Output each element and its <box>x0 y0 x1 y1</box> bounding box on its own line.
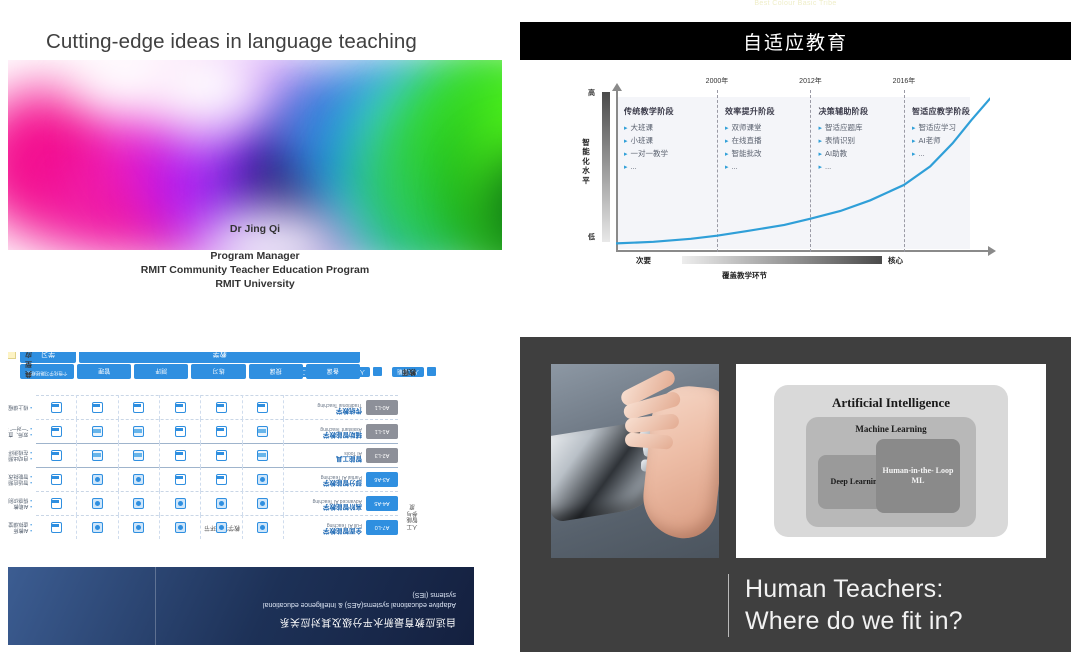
matrix-cell[interactable] <box>119 468 160 492</box>
legend-swatch-icon <box>373 368 382 377</box>
table-row[interactable]: A4-A5高阶智能教学Advanced AI Teaching <box>36 491 398 515</box>
robot-human-hands-photo <box>551 364 719 558</box>
robot-icon <box>257 474 268 485</box>
robot-icon <box>216 522 227 533</box>
matrix-cell[interactable] <box>243 396 284 420</box>
level-badge: A1-L1 <box>366 424 398 439</box>
slide-adaptive-education[interactable]: Best Colour Basic Tribe 自适应教育 高 低 智能化水平 … <box>520 0 1071 300</box>
note-line: AI助教 <box>8 503 32 509</box>
human-icon <box>257 402 268 413</box>
y-axis-low-label: 低 <box>588 232 595 242</box>
matrix-cell[interactable] <box>160 420 201 444</box>
label-machine-learning: Machine Learning <box>806 424 976 434</box>
human-icon <box>51 522 62 533</box>
human-icon <box>216 474 227 485</box>
matrix-cell[interactable] <box>243 516 284 540</box>
notes-cell: 双师、直播课堂“一对一” 在线辅导 <box>8 419 32 443</box>
matrix-cell[interactable] <box>77 492 118 516</box>
matrix-cell-group <box>36 468 284 492</box>
matrix-cell[interactable] <box>77 468 118 492</box>
robot-icon <box>133 474 144 485</box>
matrix-cell[interactable] <box>119 492 160 516</box>
matrix-side-axis-label: 人工智能参与度 <box>406 503 418 529</box>
y-axis-gradient <box>602 92 610 242</box>
matrix-notes-column: AI教师虚拟课堂AI助教情感识别智适应题库智能批改自动出题在线测评双师、直播课堂… <box>8 395 32 539</box>
page-title: Cutting-edge ideas in language teaching <box>46 30 417 54</box>
legend-swatch-icon <box>427 368 436 377</box>
human-icon <box>51 450 62 461</box>
human-icon <box>92 402 103 413</box>
matrix-cell-group <box>36 516 284 540</box>
matrix-cell[interactable] <box>77 444 118 468</box>
flipped-slide-content: 自适应教育最新水平分级及其对应关系 Adaptive educational s… <box>8 352 474 645</box>
column-header-pill[interactable]: 测评 <box>134 364 188 379</box>
robot-icon <box>133 498 144 509</box>
human-icon <box>175 402 186 413</box>
human-icon <box>51 474 62 485</box>
robot-icon <box>92 474 103 485</box>
human-teachers-caption: Human Teachers: Where do we fit in? <box>728 574 1048 637</box>
level-badge: A0-L1 <box>366 400 398 415</box>
ring-machine-learning: Machine Learning Deep Learning Human-in-… <box>806 417 976 527</box>
matrix-cell[interactable] <box>36 396 77 420</box>
slide-human-teachers[interactable]: Artificial Intelligence Machine Learning… <box>520 337 1071 652</box>
gradient-artwork <box>8 60 502 250</box>
human-icon <box>51 426 62 437</box>
slide-footer-banner: 自适应教育最新水平分级及其对应关系 Adaptive educational s… <box>8 567 474 645</box>
table-row[interactable]: A3-A6部分智能教学Partial AI Teaching <box>36 467 398 491</box>
y-axis-title: 智能化水平 <box>580 138 592 185</box>
matrix-cell[interactable] <box>119 444 160 468</box>
year-marker-label: 2016年 <box>893 76 916 86</box>
note-line: 线上课程资源 <box>8 404 32 410</box>
level-badge: A7-L0 <box>366 520 398 535</box>
matrix-cell[interactable] <box>119 516 160 540</box>
level-name-cell: 部分智能教学Partial AI Teaching <box>284 473 362 486</box>
matrix-cell[interactable] <box>77 516 118 540</box>
level-badge: A4-A5 <box>366 496 398 511</box>
level-badge: A2-L3 <box>366 448 398 463</box>
level-name-cn: 部分智能教学 <box>284 479 362 486</box>
slide-header-bar: 自适应教育 <box>520 22 1071 60</box>
ring-artificial-intelligence: Artificial Intelligence Machine Learning… <box>774 385 1008 537</box>
column-header-pill[interactable]: 练习 <box>191 364 245 379</box>
matrix-cell-group <box>36 420 284 444</box>
level-name-cn: 智能工具 <box>284 455 362 462</box>
notes-cell: 智适应题库智能批改 <box>8 467 32 491</box>
y-axis-high-label: 高 <box>588 88 595 98</box>
levels-matrix-body: 人工智能人机协同人工教师 教学实施环节 人工智能参与度 A7-L0全面智能教学F… <box>8 352 474 567</box>
matrix-cell[interactable] <box>201 444 242 468</box>
matrix-cell-group <box>36 444 284 468</box>
presenter-block: Dr Jing Qi Program Manager RMIT Communit… <box>8 223 502 292</box>
level-name-en: Full AI Teaching <box>284 521 362 527</box>
presenter-role: Program Manager <box>8 249 502 263</box>
matrix-cell[interactable] <box>36 420 77 444</box>
level-name-en: Partial AI Teaching <box>284 473 362 479</box>
column-header-pill[interactable]: 管理 <box>77 364 131 379</box>
matrix-cell[interactable] <box>243 444 284 468</box>
level-name-en: Advanced AI Teaching <box>284 497 362 503</box>
level-name-cell: 辅助智能教学Assistant Teaching <box>284 425 362 438</box>
level-name-cn: 高阶智能教学 <box>284 503 362 510</box>
note-line: 情感识别 <box>8 497 32 503</box>
caption-line-1: Human Teachers: <box>745 574 1048 606</box>
year-marker-label: 2012年 <box>799 76 822 86</box>
matrix-cell[interactable] <box>119 420 160 444</box>
level-name-cn: 辅助智能教学 <box>284 431 362 438</box>
faint-overflow-text: Best Colour Basic Tribe <box>520 0 1071 13</box>
footer-divider <box>155 567 156 645</box>
note-line: 智适应题库 <box>8 479 32 485</box>
note-line: AI教师 <box>8 527 32 533</box>
mixed-icon <box>92 450 103 461</box>
level-name-en: AI Tools <box>284 449 362 455</box>
level-name-en: Traditional Teaching <box>284 401 362 407</box>
note-line: 虚拟课堂 <box>8 521 32 527</box>
presenter-name: Dr Jing Qi <box>8 223 502 235</box>
note-line: 在线测评 <box>8 449 32 455</box>
table-row[interactable]: A2-L3智能工具AI Tools <box>36 443 398 467</box>
adaptive-education-chart: 高 低 智能化水平 2000年2012年2016年 传统教学阶段大班课小班课一对… <box>582 80 1022 280</box>
table-row[interactable]: A1-L1辅助智能教学Assistant Teaching <box>36 419 398 443</box>
robot-icon <box>175 498 186 509</box>
x-axis-title: 覆盖教学环节 <box>722 270 767 281</box>
human-icon <box>216 402 227 413</box>
slide-title-card[interactable]: Cutting-edge ideas in language teaching … <box>8 8 502 297</box>
note-line: 自动出题 <box>8 455 32 461</box>
level-name-cell: 全面智能教学Full AI Teaching <box>284 521 362 534</box>
matrix-cell[interactable] <box>36 492 77 516</box>
human-icon <box>216 450 227 461</box>
matrix-group-pills: 教学学习 <box>20 352 360 363</box>
matrix-column-headers: 备课授课练习测评管理个性化学习路径规划 <box>20 364 360 379</box>
robot-icon <box>257 522 268 533</box>
x-axis-left-label: 次要 <box>636 255 651 266</box>
group-pill[interactable]: 教学 <box>79 352 360 363</box>
level-name-cn: 传统教学 <box>284 407 362 414</box>
column-header-pill[interactable]: 授课 <box>249 364 303 379</box>
level-name-en: Assistant Teaching <box>284 425 362 431</box>
x-axis-right-label: 核心 <box>888 255 903 266</box>
slide-grid-canvas: Cutting-edge ideas in language teaching … <box>0 0 1071 652</box>
human-icon <box>216 426 227 437</box>
robot-icon <box>92 522 103 533</box>
slide-aes-levels-table[interactable]: 自适应教育最新水平分级及其对应关系 Adaptive educational s… <box>8 352 474 645</box>
matrix-cell[interactable] <box>36 516 77 540</box>
ring-human-in-the-loop-ml: Human-in-the- Loop ML <box>876 439 960 513</box>
notes-cell: 线上课程资源 <box>8 395 32 419</box>
notes-cell: AI教师虚拟课堂 <box>8 515 32 539</box>
ai-nesting-diagram: Artificial Intelligence Machine Learning… <box>736 364 1046 558</box>
mixed-icon <box>133 450 144 461</box>
note-line: 智能批改 <box>8 473 32 479</box>
footer-subtitle-en-2: systems (IES) <box>263 589 456 599</box>
matrix-cell[interactable] <box>36 444 77 468</box>
matrix-cell[interactable] <box>160 396 201 420</box>
matrix-cell[interactable] <box>201 420 242 444</box>
matrix-cell-group <box>36 492 284 516</box>
robot-icon <box>92 498 103 509</box>
human-icon <box>175 426 186 437</box>
note-line: “一对一” 在线辅导 <box>8 425 32 431</box>
matrix-cell[interactable] <box>201 492 242 516</box>
mixed-icon <box>92 426 103 437</box>
matrix-cell[interactable] <box>201 468 242 492</box>
robot-icon <box>216 498 227 509</box>
human-icon <box>133 402 144 413</box>
level-badge: A3-A6 <box>366 472 398 487</box>
matrix-cell[interactable] <box>160 492 201 516</box>
matrix-cell[interactable] <box>36 468 77 492</box>
robot-icon <box>133 522 144 533</box>
mixed-icon <box>257 426 268 437</box>
human-icon <box>175 450 186 461</box>
slide-header-title: 自适应教育 <box>743 28 848 55</box>
matrix-cell[interactable] <box>77 420 118 444</box>
column-header-pill[interactable]: 备课 <box>306 364 360 379</box>
caption-line-2: Where do we fit in? <box>745 606 1048 638</box>
note-line: 双师、直播课堂 <box>8 431 32 437</box>
table-row[interactable]: A0-L1传统教学Traditional Teaching <box>36 395 398 419</box>
presenter-program: RMIT Community Teacher Education Program <box>8 263 502 277</box>
notes-column-header: 典型应用场景 <box>25 352 32 379</box>
growth-curve <box>616 90 990 252</box>
year-marker-label: 2000年 <box>706 76 729 86</box>
human-icon <box>51 402 62 413</box>
table-row[interactable]: A7-L0全面智能教学Full AI Teaching <box>36 515 398 539</box>
matrix-cell[interactable] <box>243 420 284 444</box>
robot-icon <box>175 522 186 533</box>
matrix-group-label: 教师 <box>402 367 416 377</box>
human-icon <box>51 498 62 509</box>
notes-cell: AI助教情感识别 <box>8 491 32 515</box>
level-name-cn: 全面智能教学 <box>284 527 362 534</box>
mixed-icon <box>133 426 144 437</box>
presenter-institution: RMIT University <box>8 277 502 291</box>
matrix-cell[interactable] <box>201 396 242 420</box>
matrix-cell[interactable] <box>160 468 201 492</box>
footer-title-cn: 自适应教育最新水平分级及其对应关系 <box>279 616 456 631</box>
footer-subtitle-en-1: Adaptive educational systems(AES) & Inte… <box>263 599 456 609</box>
matrix-cell-group <box>36 396 284 420</box>
matrix-cell[interactable] <box>77 396 118 420</box>
label-artificial-intelligence: Artificial Intelligence <box>774 395 1008 411</box>
level-name-cell: 传统教学Traditional Teaching <box>284 401 362 414</box>
x-axis-gradient <box>682 256 882 264</box>
matrix-cell[interactable] <box>201 516 242 540</box>
matrix-cell[interactable] <box>160 444 201 468</box>
level-name-cell: 智能工具AI Tools <box>284 449 362 462</box>
matrix-rows: A7-L0全面智能教学Full AI TeachingA4-A5高阶智能教学Ad… <box>36 395 398 539</box>
matrix-cell[interactable] <box>119 396 160 420</box>
matrix-cell[interactable] <box>243 468 284 492</box>
levels-matrix: 教学实施环节 人工智能参与度 A7-L0全面智能教学Full AI Teachi… <box>36 384 436 539</box>
human-icon <box>175 474 186 485</box>
matrix-cell[interactable] <box>243 492 284 516</box>
level-name-cell: 高阶智能教学Advanced AI Teaching <box>284 497 362 510</box>
notes-chip <box>8 352 16 359</box>
robot-icon <box>257 498 268 509</box>
matrix-cell[interactable] <box>160 516 201 540</box>
notes-cell: 自动出题在线测评 <box>8 443 32 467</box>
mixed-icon <box>257 450 268 461</box>
